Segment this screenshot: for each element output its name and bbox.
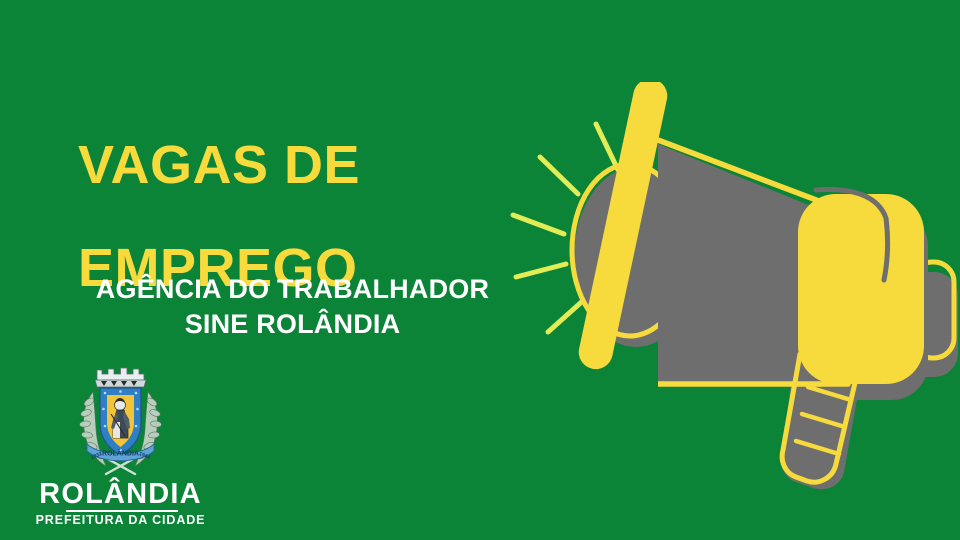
headline-line-1: VAGAS DE [78,140,498,192]
subtitle-line-2: SINE ROLÂNDIA [40,307,545,342]
logo-divider [66,510,178,512]
megaphone-amplifier [798,190,924,384]
logo-city-name: ROLÂNDIA [33,480,208,509]
subtitle: AGÊNCIA DO TRABALHADOR SINE ROLÂNDIA [40,272,545,341]
subtitle-line-1: AGÊNCIA DO TRABALHADOR [40,272,545,307]
crest-banner-text: ROLÂNDIA [102,449,139,458]
poster-canvas: VAGAS DE EMPREGO AGÊNCIA DO TRABALHADOR … [0,0,960,540]
city-logo: ROLÂNDIA 1932 1944 ROLÂNDIA PREFEITURA D… [33,362,208,534]
coat-of-arms-icon: ROLÂNDIA 1932 1944 [73,362,168,482]
logo-department: PREFEITURA DA CIDADE [33,514,208,527]
megaphone-icon [508,82,960,502]
